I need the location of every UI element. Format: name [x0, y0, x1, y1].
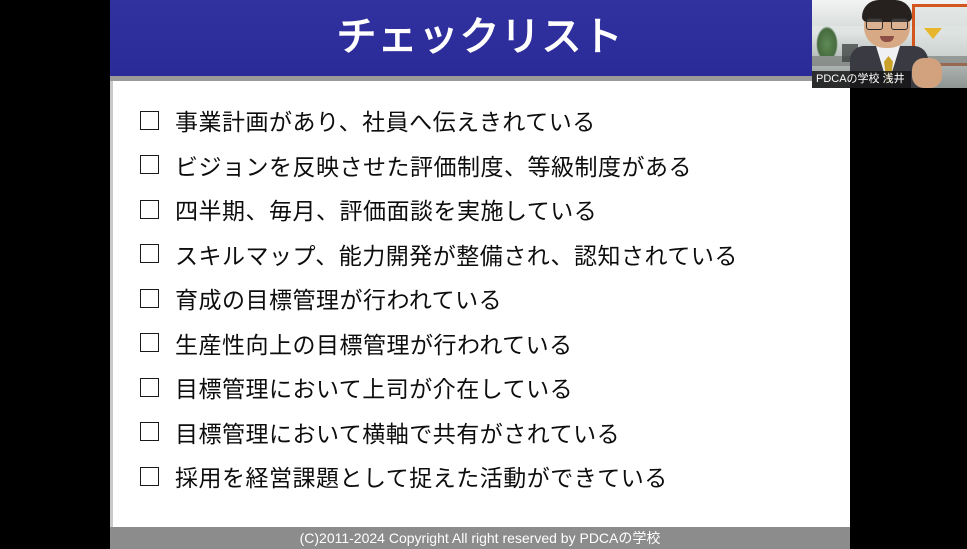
letterbox-left — [0, 0, 110, 549]
presentation-screen: チェックリスト 事業計画があり、社員へ伝えきれている ビジョンを反映させた評価制… — [0, 0, 967, 549]
checkbox-icon[interactable] — [140, 333, 159, 352]
checkbox-icon[interactable] — [140, 289, 159, 308]
person-hand — [912, 58, 942, 88]
list-item[interactable]: ビジョンを反映させた評価制度、等級制度がある — [132, 143, 832, 188]
checkbox-icon[interactable] — [140, 422, 159, 441]
list-item-label: 育成の目標管理が行われている — [175, 281, 502, 315]
office-plant — [816, 26, 838, 56]
list-item[interactable]: 目標管理において上司が介在している — [132, 365, 832, 410]
glasses-icon — [866, 18, 908, 28]
list-item[interactable]: 採用を経営課題として捉えた活動ができている — [132, 454, 832, 499]
list-item[interactable]: 生産性向上の目標管理が行われている — [132, 321, 832, 366]
list-item[interactable]: 目標管理において横軸で共有がされている — [132, 410, 832, 455]
checkbox-icon[interactable] — [140, 467, 159, 486]
list-item-label: 生産性向上の目標管理が行われている — [175, 326, 573, 360]
slide-title: チェックリスト — [110, 0, 850, 76]
list-item[interactable]: 事業計画があり、社員へ伝えきれている — [132, 98, 832, 143]
list-item-label: 目標管理において横軸で共有がされている — [175, 415, 620, 449]
pendant-lamp-icon — [924, 28, 942, 39]
copyright-text: (C)2011-2024 Copyright All right reserve… — [110, 527, 850, 549]
list-item[interactable]: 四半期、毎月、評価面談を実施している — [132, 187, 832, 232]
letterbox-right — [850, 88, 967, 549]
list-item-label: ビジョンを反映させた評価制度、等級制度がある — [175, 148, 692, 182]
checklist: 事業計画があり、社員へ伝えきれている ビジョンを反映させた評価制度、等級制度があ… — [132, 98, 832, 499]
checkbox-icon[interactable] — [140, 378, 159, 397]
video-participant-tile[interactable]: PDCAの学校 浅井 — [812, 0, 967, 88]
list-item[interactable]: 育成の目標管理が行われている — [132, 276, 832, 321]
participant-name-label: PDCAの学校 浅井 — [812, 71, 911, 88]
checkbox-icon[interactable] — [140, 200, 159, 219]
list-item-label: 目標管理において上司が介在している — [175, 370, 573, 404]
list-item-label: スキルマップ、能力開発が整備され、認知されている — [175, 237, 738, 271]
list-item-label: 事業計画があり、社員へ伝えきれている — [175, 103, 596, 137]
list-item-label: 採用を経営課題として捉えた活動ができている — [175, 459, 668, 493]
slide-left-border — [110, 81, 113, 527]
slide-canvas: チェックリスト 事業計画があり、社員へ伝えきれている ビジョンを反映させた評価制… — [110, 0, 850, 549]
header-divider — [110, 76, 850, 81]
checkbox-icon[interactable] — [140, 111, 159, 130]
slide-footer-band: (C)2011-2024 Copyright All right reserve… — [110, 527, 850, 549]
list-item-label: 四半期、毎月、評価面談を実施している — [175, 192, 597, 226]
list-item[interactable]: スキルマップ、能力開発が整備され、認知されている — [132, 232, 832, 277]
checkbox-icon[interactable] — [140, 244, 159, 263]
checkbox-icon[interactable] — [140, 155, 159, 174]
